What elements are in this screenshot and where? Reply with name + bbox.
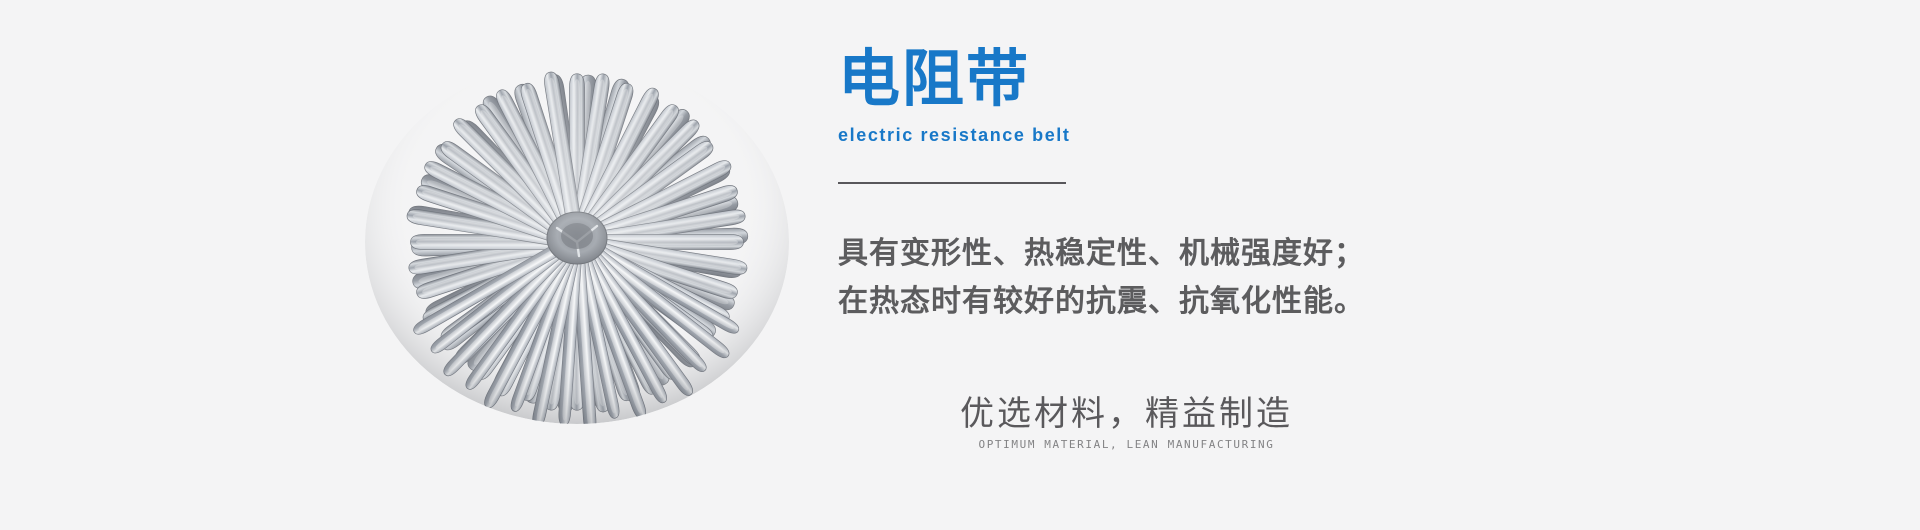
page-title: 电阻带 — [838, 47, 1071, 111]
slogan-english: OPTIMUM MATERIAL, LEAN MANUFACTURING — [960, 438, 1293, 452]
product-banner: 电阻带 electric resistance belt 具有变形性、热稳定性、… — [0, 0, 1920, 530]
slogan-block: 优选材料，精益制造 OPTIMUM MATERIAL, LEAN MANUFAC… — [960, 393, 1293, 452]
product-image-figure — [352, 42, 802, 442]
description-line-1: 具有变形性、热稳定性、机械强度好； — [838, 230, 1365, 278]
description-line-2: 在热态时有较好的抗震、抗氧化性能。 — [838, 278, 1365, 326]
electric-resistance-belt-coil-photo — [352, 42, 802, 442]
page-subtitle: electric resistance belt — [838, 125, 1071, 145]
slogan-chinese: 优选材料，精益制造 — [960, 393, 1293, 435]
title-divider — [838, 182, 1066, 184]
title-block: 电阻带 electric resistance belt — [838, 47, 1071, 145]
banner-text-panel: 电阻带 electric resistance belt 具有变形性、热稳定性、… — [838, 0, 1838, 530]
product-description: 具有变形性、热稳定性、机械强度好； 在热态时有较好的抗震、抗氧化性能。 — [838, 230, 1365, 326]
